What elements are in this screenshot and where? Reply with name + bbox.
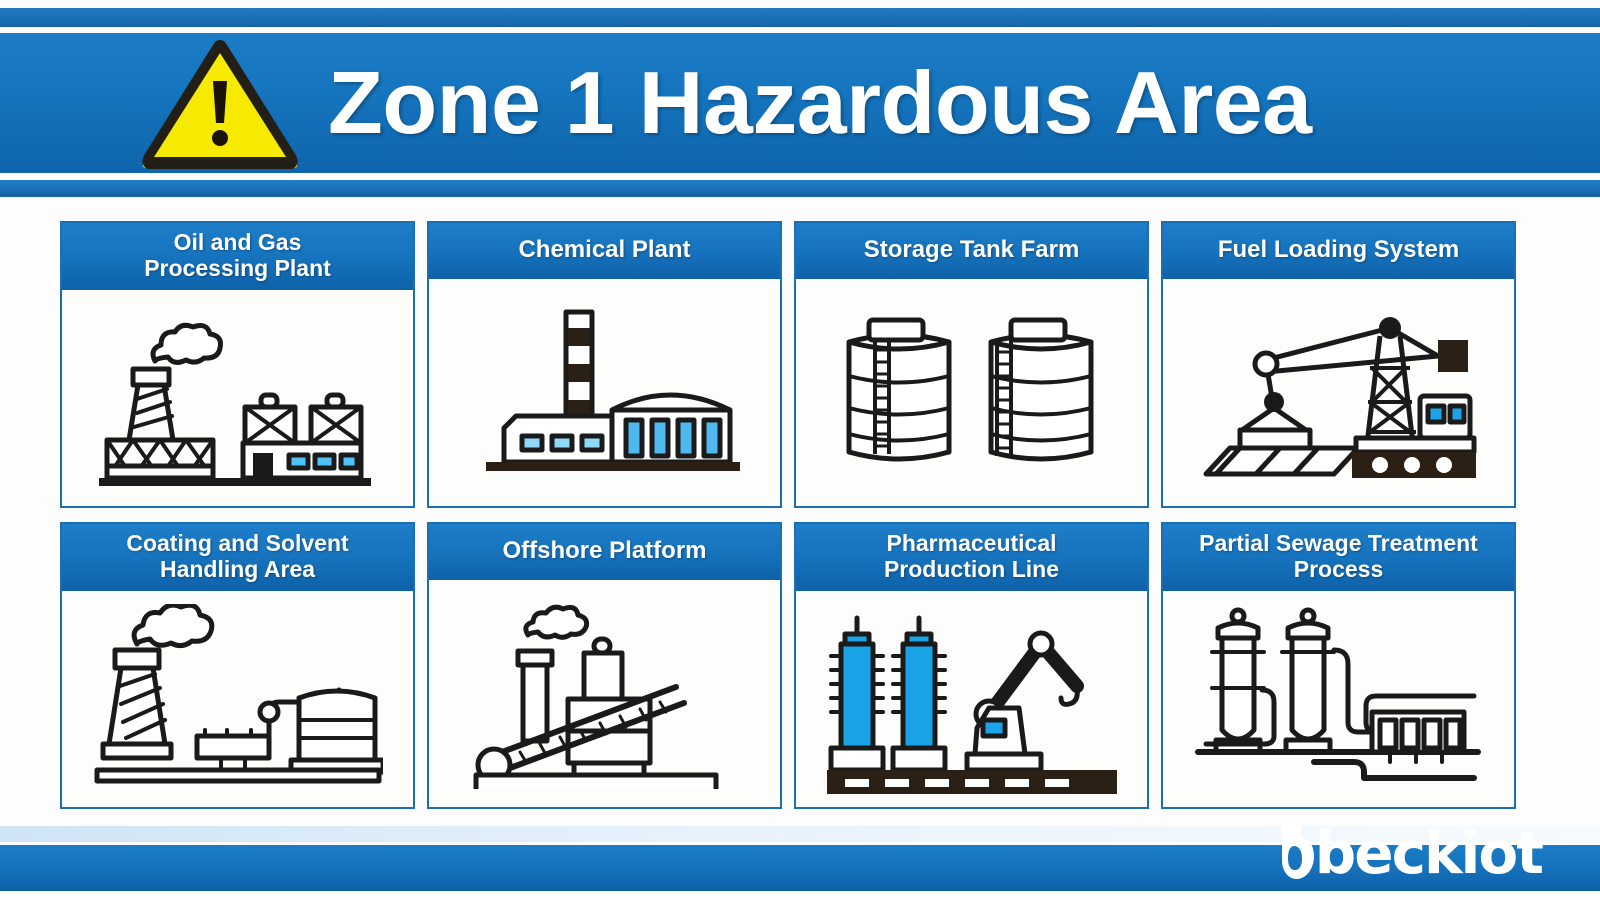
card-coating-and-solvent-handling-area[interactable]: Coating and Solvent Handling Area	[60, 522, 415, 809]
hazard-area-card-grid: Oil and Gas Processing Plant	[60, 221, 1516, 809]
refinery-plant-icon	[93, 303, 383, 493]
card-title-storage-tank-farm: Storage Tank Farm	[796, 223, 1147, 279]
card-icon-area	[796, 279, 1147, 506]
chemical-plant-icon	[460, 298, 750, 488]
card-partial-sewage-treatment-process[interactable]: Partial Sewage Treatment Process	[1161, 522, 1516, 809]
card-icon-area	[62, 290, 413, 507]
card-title-fuel-loading-system: Fuel Loading System	[1163, 223, 1514, 279]
card-title-line2: Handling Area	[160, 556, 315, 582]
warning-triangle-icon	[140, 37, 300, 169]
card-title-chemical-plant: Chemical Plant	[429, 223, 780, 279]
card-icon-area	[1163, 591, 1514, 808]
card-fuel-loading-system[interactable]: Fuel Loading System	[1161, 221, 1516, 508]
card-title-offshore-platform: Offshore Platform	[429, 524, 780, 580]
card-icon-area	[429, 279, 780, 506]
card-oil-and-gas-processing-plant[interactable]: Oil and Gas Processing Plant	[60, 221, 415, 508]
pharma-production-icon	[827, 604, 1117, 794]
brand-logo-text: beckiot	[1315, 824, 1542, 882]
card-title-line1: Pharmaceutical	[886, 530, 1056, 556]
card-chemical-plant[interactable]: Chemical Plant	[427, 221, 782, 508]
card-icon-area	[1163, 279, 1514, 506]
card-title-partial-sewage-treatment-process: Partial Sewage Treatment Process	[1163, 524, 1514, 591]
brand-logo: beckiot	[1281, 820, 1542, 886]
card-title-line1: Coating and Solvent	[126, 530, 348, 556]
page-title: Zone 1 Hazardous Area	[328, 52, 1312, 154]
card-title-line1: Partial Sewage Treatment	[1199, 530, 1478, 556]
card-title-pharmaceutical-production-line: Pharmaceutical Production Line	[796, 524, 1147, 591]
card-title-line2: Processing Plant	[144, 255, 331, 281]
loading-crane-icon	[1194, 298, 1484, 488]
offshore-platform-icon	[460, 599, 750, 789]
sewage-treatment-icon	[1194, 604, 1484, 794]
card-title-coating-and-solvent-handling-area: Coating and Solvent Handling Area	[62, 524, 413, 591]
card-icon-area	[62, 591, 413, 808]
header-stripe-bottom	[0, 180, 1600, 197]
card-offshore-platform[interactable]: Offshore Platform	[427, 522, 782, 809]
page-header: Zone 1 Hazardous Area	[0, 0, 1600, 200]
card-icon-area	[796, 591, 1147, 808]
card-pharmaceutical-production-line[interactable]: Pharmaceutical Production Line	[794, 522, 1149, 809]
card-title-line2: Process	[1294, 556, 1384, 582]
storage-tanks-icon	[827, 298, 1117, 488]
card-title-line1: Oil and Gas	[174, 229, 302, 255]
card-icon-area	[429, 580, 780, 807]
solvent-handling-icon	[93, 604, 383, 794]
card-storage-tank-farm[interactable]: Storage Tank Farm	[794, 221, 1149, 508]
card-title-oil-and-gas-processing-plant: Oil and Gas Processing Plant	[62, 223, 413, 290]
header-band: Zone 1 Hazardous Area	[0, 33, 1600, 173]
header-stripe-top	[0, 8, 1600, 27]
card-title-line2: Production Line	[884, 556, 1059, 582]
beckiot-b-mark-icon	[1281, 822, 1315, 884]
